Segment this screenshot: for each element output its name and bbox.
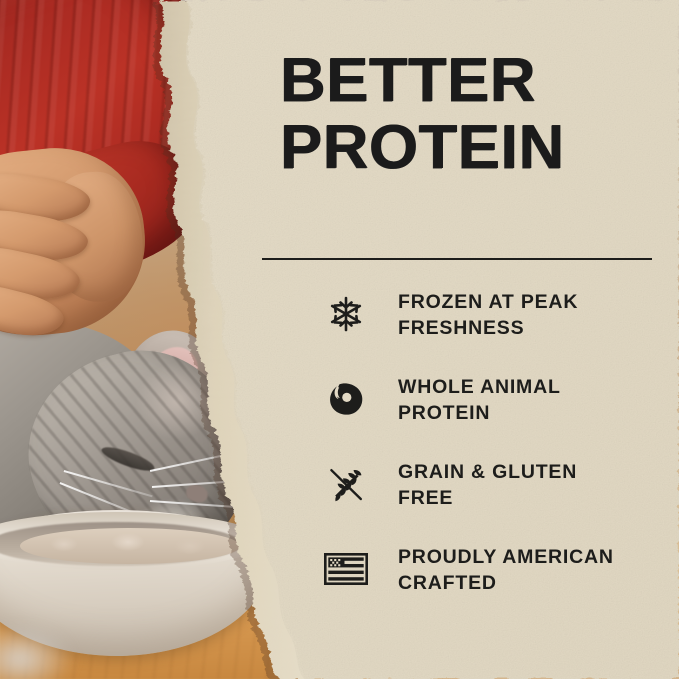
list-item: GRAIN & GLUTEN FREE xyxy=(322,458,662,516)
feature-list: FROZEN AT PEAK FRESHNESS WHOLE ANIMAL PR… xyxy=(322,288,662,628)
wheat-crossed-out-icon xyxy=(322,460,370,508)
steak-icon xyxy=(322,375,370,423)
list-item-label: GRAIN & GLUTEN FREE xyxy=(398,458,577,511)
headline-line-2: PROTEIN xyxy=(280,119,678,178)
snowflake-icon xyxy=(322,290,370,338)
poster-canvas: BETTER PROTEIN xyxy=(0,0,679,679)
headline-line-1: BETTER xyxy=(280,52,678,111)
red-brush-stroke xyxy=(272,192,664,228)
list-item: FROZEN AT PEAK FRESHNESS xyxy=(322,288,662,346)
page-title: BETTER PROTEIN xyxy=(280,52,670,178)
list-item-label: WHOLE ANIMAL PROTEIN xyxy=(398,373,561,426)
list-item-label: PROUDLY AMERICAN CRAFTED xyxy=(398,543,614,596)
divider-rule xyxy=(262,258,652,260)
poster-content: BETTER PROTEIN xyxy=(0,0,679,679)
american-flag-icon xyxy=(322,545,370,593)
list-item-label: FROZEN AT PEAK FRESHNESS xyxy=(398,288,578,341)
list-item: WHOLE ANIMAL PROTEIN xyxy=(322,373,662,431)
list-item: PROUDLY AMERICAN CRAFTED xyxy=(322,543,662,601)
